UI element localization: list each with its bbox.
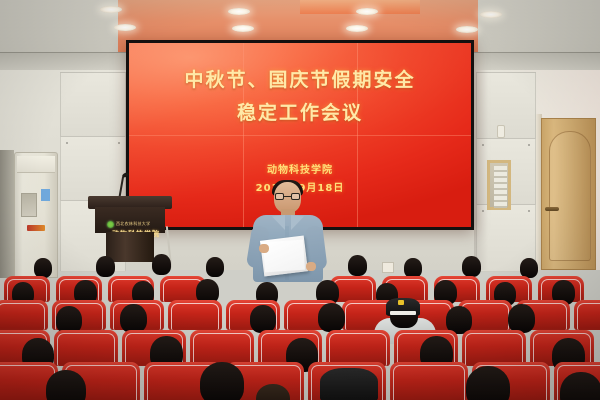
wall-panel [60,136,126,202]
audience-head [462,256,481,277]
wall-side-column [0,150,14,278]
podium-base [106,232,154,262]
recessed-downlight [456,26,478,33]
auditorium-seat[interactable] [54,330,118,366]
recessed-downlight [356,8,378,15]
cap-logo-icon [398,300,404,305]
slide-title-line1: 中秋节、国庆节假期安全 [129,65,471,92]
baseball-cap [320,368,378,400]
panel-screw [66,142,68,144]
recessed-downlight [114,24,136,31]
audience-head [466,366,510,400]
audience-head [560,372,600,400]
audience-head [96,256,115,277]
wall-panel [60,72,126,138]
auditorium-seat[interactable] [168,300,222,330]
audience-head [508,304,535,333]
wall-corner-shadow [474,70,488,270]
podium-front-face: 西北农林科技大学 动物科技学院 [95,207,165,233]
floor-air-conditioner [14,152,58,278]
panel-screw [118,142,120,144]
panel-bezel [129,135,471,136]
wall-sensor-icon [497,125,505,138]
wall-vent-window [487,160,511,210]
ac-energy-label [41,189,50,201]
ac-display-panel [21,193,37,217]
audience-head [348,255,367,276]
cap-strap [390,311,416,315]
panel-screw [528,210,530,212]
audience-head [46,370,86,400]
audience-head [120,304,147,333]
audience-head [250,305,276,333]
door-arch-panel [549,131,591,261]
lectern-podium: 西北农林科技大学 动物科技学院 [88,196,172,262]
ac-top-vent [17,156,55,173]
audience-head [200,362,244,400]
audience-head [206,257,224,277]
recessed-downlight [346,25,368,32]
panel-screw [528,144,530,146]
slide-title-line2: 稳定工作会议 [129,98,471,125]
audience-head [404,258,422,278]
recessed-downlight [100,6,122,13]
auditorium-seat[interactable] [0,300,48,330]
auditorium-photo-scene: 中秋节、国庆节假期安全 稳定工作会议 动物科技学院 2018年9月18日 西北农… [0,0,600,400]
audience-head [520,258,538,278]
audience-head [318,303,345,332]
university-seal-logo-icon [107,221,114,228]
recessed-downlight [480,11,502,18]
presenter-left-hand [259,244,269,253]
podium-university-text: 西北农林科技大学 [116,221,166,227]
held-documents [260,235,308,276]
glasses-icon [275,193,300,200]
slide-subtitle-organization: 动物科技学院 [129,161,471,176]
presenter-person [250,182,326,282]
auditorium-seat[interactable] [574,300,600,330]
door-handle-icon[interactable] [545,207,559,211]
presenter-right-hand [306,262,316,271]
ac-brand-badge [27,225,45,231]
audience-head [152,254,171,275]
recessed-downlight [232,25,254,32]
audience-head [34,258,52,278]
wall-power-socket [382,262,394,273]
auditorium-seat[interactable] [326,330,390,366]
auditorium-seat[interactable] [462,330,526,366]
wooden-entry-door[interactable] [541,118,596,270]
auditorium-seat[interactable] [190,330,254,366]
recessed-downlight [228,8,250,15]
auditorium-seat[interactable] [390,362,468,400]
